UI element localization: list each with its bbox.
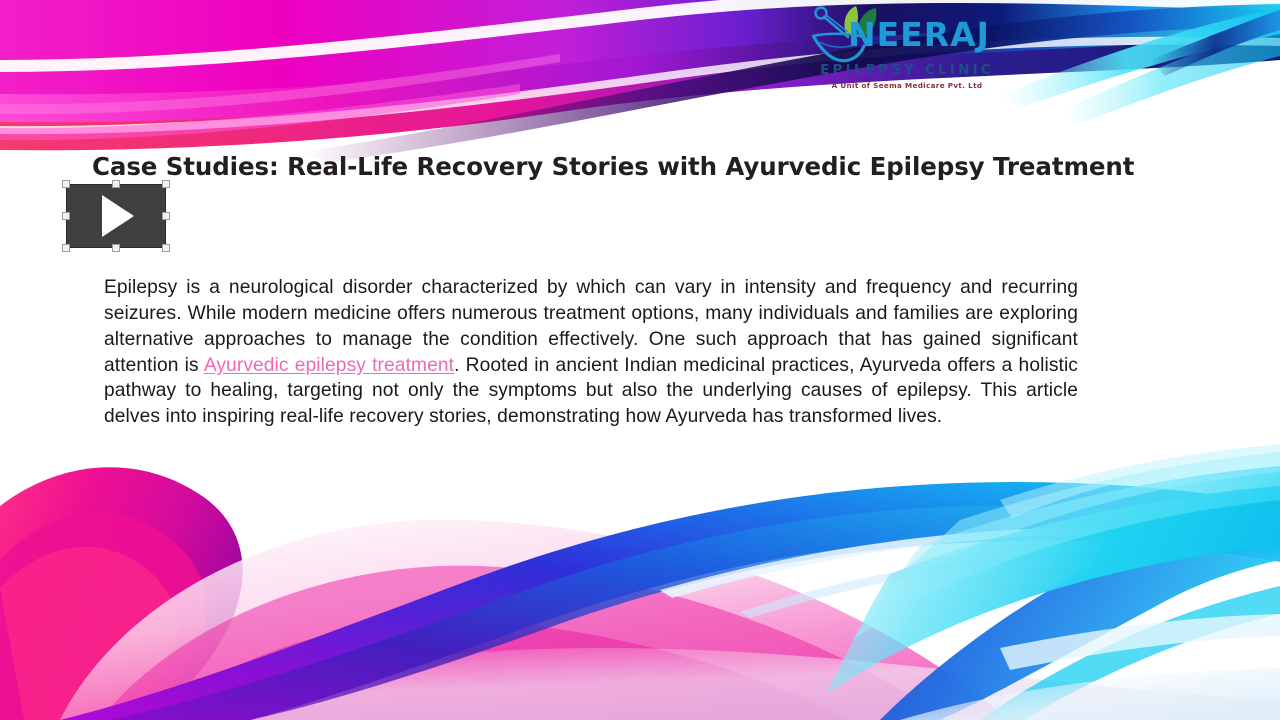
resize-handle-n[interactable]	[112, 180, 120, 188]
resize-handle-se[interactable]	[162, 244, 170, 252]
resize-handle-e[interactable]	[162, 212, 170, 220]
resize-handle-s[interactable]	[112, 244, 120, 252]
mortar-and-pestle-icon: NEERAJ	[812, 4, 1002, 66]
play-icon	[102, 195, 134, 237]
resize-handle-ne[interactable]	[162, 180, 170, 188]
video-play-button[interactable]	[66, 184, 166, 248]
logo-subtitle: EPILEPSY CLINIC	[820, 64, 994, 78]
logo-name: NEERAJ	[848, 18, 990, 51]
body-paragraph: Epilepsy is a neurological disorder char…	[104, 275, 1078, 430]
logo-tagline: A Unit of Seema Medicare Pvt. Ltd	[832, 82, 983, 89]
resize-handle-sw[interactable]	[62, 244, 70, 252]
presentation-slide: NEERAJ EPILEPSY CLINIC A Unit of Seema M…	[0, 0, 1280, 720]
page-title: Case Studies: Real-Life Recovery Stories…	[92, 152, 1222, 181]
ayurvedic-treatment-link[interactable]: Ayurvedic epilepsy treatment	[204, 355, 454, 376]
resize-handle-nw[interactable]	[62, 180, 70, 188]
clinic-logo: NEERAJ EPILEPSY CLINIC A Unit of Seema M…	[812, 4, 1002, 108]
resize-handle-w[interactable]	[62, 212, 70, 220]
